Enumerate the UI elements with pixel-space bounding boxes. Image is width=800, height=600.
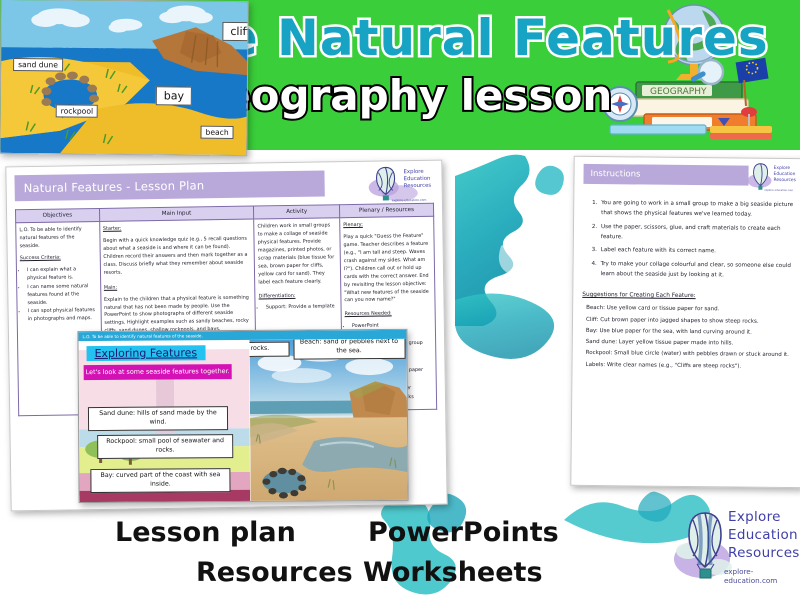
brand-line-3: Resources xyxy=(728,544,800,562)
list-item: I can name some natural features found a… xyxy=(27,283,97,308)
list-item: You are going to work in a small group t… xyxy=(599,198,795,221)
caption-powerpoints: PowerPoints xyxy=(368,517,559,548)
svg-text:explore-education.com: explore-education.com xyxy=(764,188,793,192)
brand-logo-icon: Explore Education Resources explore-educ… xyxy=(367,163,434,204)
success-criteria-list: I can explain what a physical feature is… xyxy=(27,266,97,325)
collage-label-sand-dune: sand dune xyxy=(13,58,63,71)
resources-heading: Resources Needed: xyxy=(345,311,392,318)
svg-text:Resources: Resources xyxy=(773,177,796,183)
objective-lo: L.O. To be able to identify natural feat… xyxy=(19,226,96,251)
differentiation-heading: Differentiation: xyxy=(259,292,296,299)
list-item: Try to make your collage colourful and c… xyxy=(598,259,794,282)
collage-worksheet[interactable]: sand dune rockpool bay cliff beach xyxy=(0,0,249,156)
list-item: Label each feature with its correct name… xyxy=(599,245,795,257)
collage-label-cliff: cliff xyxy=(222,22,248,41)
suggestions-list: Beach: Use yellow card or tissue paper f… xyxy=(585,303,794,373)
success-criteria-heading: Success Criteria: xyxy=(20,254,61,261)
brand-url: explore-education.com xyxy=(724,567,800,585)
slide-photo-panel: Cliff: tall, steep rocks. Beach: sand or… xyxy=(249,339,408,503)
starter-heading: Starter: xyxy=(103,226,122,232)
list-item: Support: Provide a template xyxy=(266,304,338,313)
list-item: Labels: Write clear names (e.g., "Cliffs… xyxy=(585,360,793,373)
instructions-document[interactable]: Instructions Explore Education Resources… xyxy=(570,156,800,488)
collage-label-rockpool: rockpool xyxy=(56,104,99,117)
slide-label-bay: Bay: curved part of the coast with sea i… xyxy=(90,468,230,493)
list-item: I can spot physical features in photogra… xyxy=(28,307,98,324)
brand-text-block: Explore Education Resources xyxy=(728,508,800,563)
caption-resources: Resources xyxy=(196,557,353,588)
starter-text: Begin with a quick knowledge quiz (e.g.,… xyxy=(103,236,251,278)
plenary-heading: Plenary: xyxy=(343,222,363,228)
slide-label-cliff: Cliff: tall, steep rocks. xyxy=(249,342,289,358)
brand-logo-icon: Explore Education Resources explore-educ… xyxy=(746,161,798,194)
slide-left-panel: Exploring Features Let's look at some se… xyxy=(78,340,250,503)
differentiation-list: Support: Provide a template xyxy=(266,304,338,313)
beach-photo xyxy=(249,339,408,503)
lesson-plan-title: Natural Features - Lesson Plan xyxy=(14,170,324,201)
list-item: I can explain what a physical feature is… xyxy=(27,266,97,283)
poster-canvas: GEOGRAPHY Seaside Natu xyxy=(0,0,800,600)
instructions-steps: You are going to work in a small group t… xyxy=(598,198,795,281)
svg-text:explore-education.com: explore-education.com xyxy=(392,198,427,203)
caption-worksheets: Worksheets xyxy=(363,557,543,588)
svg-text:Education: Education xyxy=(774,171,796,177)
activity-text: Children work in small groups to make a … xyxy=(257,222,337,287)
slide-label-sand-dune: Sand dune: hills of sand made by the win… xyxy=(88,406,228,431)
collage-label-bay: bay xyxy=(156,86,192,105)
brand-line-1: Explore xyxy=(728,508,800,526)
column-header-objectives: Objectives xyxy=(15,208,99,222)
caption-lesson-plan: Lesson plan xyxy=(115,517,296,548)
column-header-activity: Activity xyxy=(254,205,340,219)
slide-label-rockpool: Rockpool: small pool of seawater and roc… xyxy=(97,434,233,459)
slide-intro-banner: Let's look at some seaside features toge… xyxy=(84,364,232,380)
brand-logo: Explore Education Resources explore-educ… xyxy=(672,505,800,597)
list-item: Use the paper, scissors, glue, and craft… xyxy=(599,222,795,245)
svg-text:Resources: Resources xyxy=(404,183,432,189)
main-heading: Main: xyxy=(104,284,117,290)
brand-line-2: Education xyxy=(728,526,800,544)
svg-text:Explore: Explore xyxy=(403,169,424,175)
slide-heading: Exploring Features xyxy=(87,345,206,361)
plenary-text: Play a quick "Guess the Feature" game. T… xyxy=(343,233,431,306)
slide-label-beach: Beach: sand or pebbles next to the sea. xyxy=(293,339,405,359)
powerpoint-slide[interactable]: L.O. To be able to identify natural feat… xyxy=(77,329,408,503)
instructions-title: Instructions xyxy=(583,164,749,186)
svg-text:Explore: Explore xyxy=(774,165,791,171)
svg-text:Education: Education xyxy=(404,176,431,182)
suggestions-heading: Suggestions for Creating Each Feature: xyxy=(582,292,794,300)
collage-label-beach: beach xyxy=(200,126,233,139)
